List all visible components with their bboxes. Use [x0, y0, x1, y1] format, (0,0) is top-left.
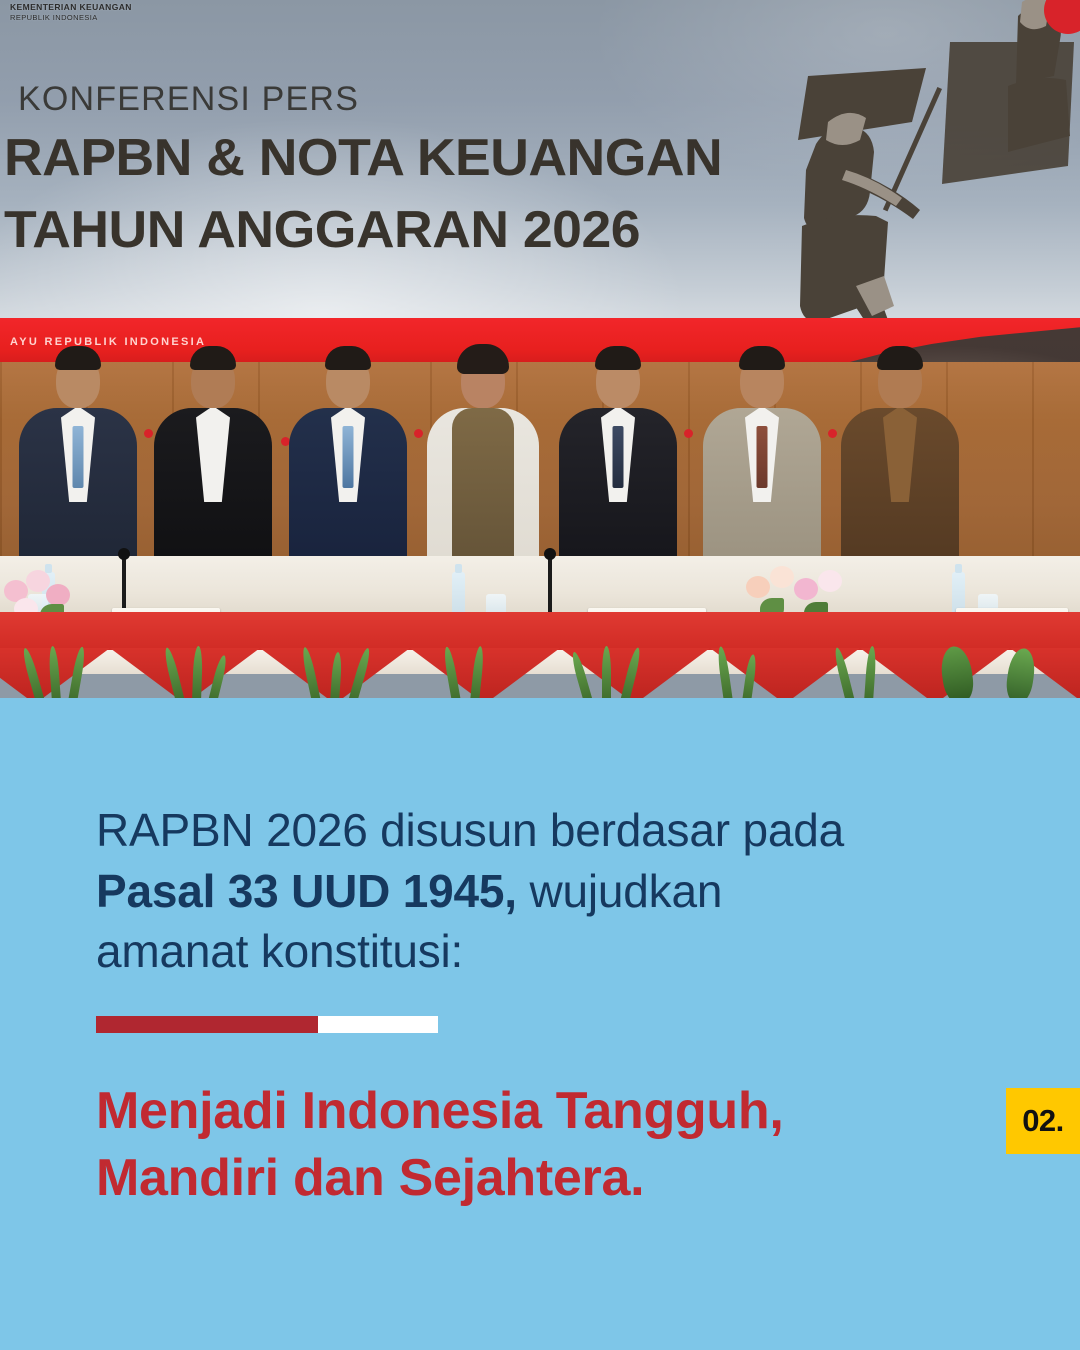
- microphone: [548, 556, 552, 620]
- content-panel: RAPBN 2026 disusun berdasar pada Pasal 3…: [0, 698, 1080, 1350]
- lede-bold: Pasal 33 UUD 1945,: [96, 865, 517, 917]
- divider-red-segment: [96, 1016, 318, 1033]
- slide-number-badge: 02.: [1006, 1088, 1080, 1154]
- led-banner-text: AYU REPUBLIK INDONESIA: [10, 336, 206, 348]
- lede-paragraph: RAPBN 2026 disusun berdasar pada Pasal 3…: [96, 800, 886, 982]
- press-conference-photo: KEMENTERIAN KEUANGAN REPUBLIK INDONESIA …: [0, 0, 1080, 698]
- banner-kicker: KONFERENSI PERS: [18, 80, 359, 119]
- red-white-divider: [96, 1016, 438, 1033]
- headline: Menjadi Indonesia Tangguh, Mandiri dan S…: [96, 1078, 916, 1211]
- slide-number-text: 02.: [1022, 1103, 1064, 1139]
- infographic-slide: KEMENTERIAN KEUANGAN REPUBLIK INDONESIA …: [0, 0, 1080, 1350]
- ministry-logo-line2: REPUBLIK INDONESIA: [10, 13, 170, 22]
- monument-statue-artwork: [750, 0, 1080, 334]
- lede-part1: RAPBN 2026 disusun berdasar pada: [96, 804, 844, 856]
- ministry-logo-lockup: KEMENTERIAN KEUANGAN REPUBLIK INDONESIA: [10, 2, 170, 22]
- divider-white-segment: [318, 1016, 438, 1033]
- foliage-row: [0, 640, 1080, 698]
- banner-title-line1: RAPBN & NOTA KEUANGAN: [4, 128, 722, 188]
- headline-line2: Mandiri dan Sejahtera.: [96, 1145, 916, 1212]
- headline-line1: Menjadi Indonesia Tangguh,: [96, 1078, 916, 1145]
- banner-title-line2: TAHUN ANGGARAN 2026: [4, 200, 640, 260]
- ministry-logo-line1: KEMENTERIAN KEUANGAN: [10, 2, 170, 13]
